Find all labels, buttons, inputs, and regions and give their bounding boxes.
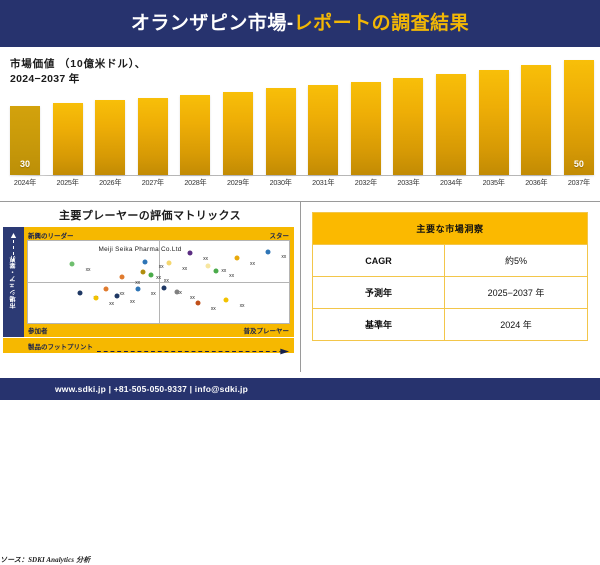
source-name: SDKI Analytics bbox=[28, 556, 74, 564]
matrix-data-point bbox=[70, 261, 75, 266]
chart-x-tick-label: 2025年 bbox=[53, 178, 83, 194]
insights-row-value: 約5% bbox=[445, 245, 588, 277]
matrix-highlight-company-label: Meiji Seika Pharma Co.Ltd bbox=[98, 246, 181, 253]
matrix-data-point-label: xx bbox=[130, 299, 135, 305]
matrix-data-point bbox=[143, 259, 148, 264]
chart-x-tick-label: 2029年 bbox=[223, 178, 253, 194]
matrix-data-point-label: xx bbox=[182, 266, 187, 272]
insights-row-value: 2024 年 bbox=[445, 309, 588, 341]
chart-x-tick-label: 2030年 bbox=[266, 178, 296, 194]
matrix-y-axis-label: 市場シェア・業界 bbox=[9, 255, 18, 309]
chart-bar-column bbox=[521, 55, 551, 175]
chart-bar-column bbox=[393, 55, 423, 175]
matrix-data-point-label: xx bbox=[240, 303, 245, 309]
matrix-quadrant-label-participant: 参加者 bbox=[28, 325, 48, 335]
chart-bar bbox=[95, 100, 125, 175]
matrix-data-point bbox=[161, 285, 166, 290]
source-prefix: ソース： bbox=[0, 557, 28, 564]
matrix-data-point bbox=[224, 298, 229, 303]
chart-bar bbox=[138, 98, 168, 175]
matrix-data-point bbox=[119, 275, 124, 280]
chart-bar: 50 bbox=[564, 60, 594, 175]
matrix-data-point bbox=[195, 301, 200, 306]
insights-header: 主要な市場洞察 bbox=[313, 213, 588, 245]
matrix-data-point-label: xx bbox=[190, 295, 195, 301]
chart-bar bbox=[479, 70, 509, 175]
chart-x-tick-label: 2036年 bbox=[521, 178, 551, 194]
table-header-row: 主要な市場洞察 bbox=[313, 213, 588, 245]
matrix-data-point-label: xx bbox=[135, 280, 140, 286]
insights-row-value: 2025−2037 年 bbox=[445, 277, 588, 309]
footer-contact: www.sdki.jp | +81-505-050-9337 | info@sd… bbox=[55, 384, 248, 394]
matrix-title: 主要プレーヤーの評価マトリックス bbox=[0, 207, 300, 223]
matrix-data-point-label: xx bbox=[86, 267, 91, 273]
insights-row-key: 予測年 bbox=[313, 277, 445, 309]
player-matrix-panel: 主要プレーヤーの評価マトリックス 新興のリーダー スター 参加者 普及プレーヤー… bbox=[0, 202, 300, 372]
matrix-data-point bbox=[187, 251, 192, 256]
matrix-quadrant-label-star: スター bbox=[270, 230, 290, 240]
chart-x-tick-label: 2026年 bbox=[95, 178, 125, 194]
infographic-root: オランザピン市場-レポートの調査結果 市場価値 （10億米ドル）、 2024−2… bbox=[0, 0, 600, 400]
matrix-data-point bbox=[234, 256, 239, 261]
chart-bar bbox=[223, 92, 253, 175]
chart-bar-column bbox=[351, 55, 381, 175]
matrix-frame: 新興のリーダー スター 参加者 普及プレーヤー Meiji Seika Phar… bbox=[3, 227, 294, 337]
chart-bar-column: 50 bbox=[564, 55, 594, 175]
chart-bar-column bbox=[223, 55, 253, 175]
chart-x-tick-label: 2037年 bbox=[564, 178, 594, 194]
matrix-data-point-label: xx bbox=[211, 306, 216, 312]
table-row: 予測年2025−2037 年 bbox=[313, 277, 588, 309]
chart-x-tick-label: 2032年 bbox=[351, 178, 381, 194]
table-row: CAGR約5% bbox=[313, 245, 588, 277]
matrix-x-axis-label: 製品のフットプリント bbox=[28, 341, 93, 351]
matrix-data-point bbox=[166, 261, 171, 266]
matrix-axis-horizontal bbox=[28, 282, 289, 283]
chart-bar-value-label: 30 bbox=[10, 159, 40, 169]
chart-baseline bbox=[8, 175, 596, 176]
right-arrow-icon bbox=[97, 342, 290, 349]
matrix-data-point bbox=[140, 270, 145, 275]
matrix-data-point-label: xx bbox=[109, 301, 114, 307]
chart-bar-column bbox=[479, 55, 509, 175]
matrix-data-point bbox=[93, 296, 98, 301]
chart-x-tick-label: 2034年 bbox=[436, 178, 466, 194]
chart-x-tick-label: 2028年 bbox=[180, 178, 210, 194]
page-title-primary: オランザピン市場- bbox=[131, 13, 294, 34]
matrix-data-point bbox=[104, 286, 109, 291]
chart-x-tick-label: 2024年 bbox=[10, 178, 40, 194]
matrix-data-point-label: xx bbox=[221, 268, 226, 274]
chart-bar bbox=[521, 65, 551, 175]
matrix-data-point-label: xx bbox=[229, 273, 234, 279]
chart-bar-column bbox=[95, 55, 125, 175]
chart-bar-column bbox=[266, 55, 296, 175]
chart-bar bbox=[351, 82, 381, 175]
chart-bar bbox=[266, 88, 296, 175]
chart-bar-column bbox=[138, 55, 168, 175]
chart-bar bbox=[53, 103, 83, 175]
chart-bar-column bbox=[180, 55, 210, 175]
matrix-data-point bbox=[114, 293, 119, 298]
market-value-chart: 市場価値 （10億米ドル）、 2024−2037 年 3050 2024年202… bbox=[0, 47, 600, 197]
table-row: 基準年2024 年 bbox=[313, 309, 588, 341]
matrix-quadrant-label-emerging: 新興のリーダー bbox=[28, 230, 74, 240]
chart-bar-column bbox=[308, 55, 338, 175]
matrix-data-point-label: xx bbox=[159, 264, 164, 270]
chart-plot-area: 3050 bbox=[10, 55, 594, 175]
matrix-data-point-label: xx bbox=[156, 275, 161, 281]
chart-bar-value-label: 50 bbox=[564, 159, 594, 169]
matrix-y-axis-label-wrap: 市場シェア・業界 bbox=[3, 227, 24, 337]
chart-bar-column: 30 bbox=[10, 55, 40, 175]
matrix-data-point bbox=[266, 249, 271, 254]
matrix-data-point-label: xx bbox=[281, 254, 286, 260]
insights-row-key: CAGR bbox=[313, 245, 445, 277]
chart-bar-column bbox=[436, 55, 466, 175]
chart-x-tick-label: 2035年 bbox=[479, 178, 509, 194]
matrix-data-point bbox=[206, 263, 211, 268]
matrix-data-point-label: xx bbox=[164, 278, 169, 284]
header-bar: オランザピン市場-レポートの調査結果 bbox=[0, 0, 600, 47]
chart-bar-column bbox=[53, 55, 83, 175]
chart-x-axis: 2024年2025年2026年2027年2028年2029年2030年2031年… bbox=[10, 178, 594, 194]
matrix-x-axis-row: 製品のフットプリント bbox=[3, 338, 294, 353]
matrix-data-point-label: xx bbox=[203, 256, 208, 262]
page-title: オランザピン市場-レポートの調査結果 bbox=[131, 14, 469, 33]
matrix-data-point bbox=[174, 289, 179, 294]
matrix-quadrant-label-penetrator: 普及プレーヤー bbox=[244, 325, 290, 335]
chart-bar bbox=[393, 78, 423, 175]
chart-x-tick-label: 2033年 bbox=[393, 178, 423, 194]
matrix-scatter-area: Meiji Seika Pharma Co.Ltd xxxxxxxxxxxxxx… bbox=[27, 240, 290, 324]
chart-bar: 30 bbox=[10, 106, 40, 175]
chart-x-tick-label: 2031年 bbox=[308, 178, 338, 194]
matrix-data-point bbox=[78, 290, 83, 295]
chart-x-tick-label: 2027年 bbox=[138, 178, 168, 194]
matrix-data-point-label: xx bbox=[151, 291, 156, 297]
matrix-data-point-label: xx bbox=[250, 261, 255, 267]
source-note: ソース：SDKI Analytics 分析 bbox=[0, 555, 90, 565]
matrix-data-point bbox=[135, 286, 140, 291]
page-title-accent: レポートの調査結果 bbox=[294, 13, 470, 34]
footer-bar: www.sdki.jp | +81-505-050-9337 | info@sd… bbox=[0, 378, 600, 400]
chart-bar bbox=[180, 95, 210, 175]
chart-bar bbox=[436, 74, 466, 175]
matrix-data-point bbox=[213, 268, 218, 273]
matrix-data-point bbox=[148, 273, 153, 278]
key-insights-panel: 主要な市場洞察 CAGR約5%予測年2025−2037 年基準年2024 年 bbox=[300, 202, 600, 372]
source-suffix: 分析 bbox=[74, 557, 90, 564]
insights-row-key: 基準年 bbox=[313, 309, 445, 341]
key-insights-table: 主要な市場洞察 CAGR約5%予測年2025−2037 年基準年2024 年 bbox=[312, 212, 588, 341]
chart-bar bbox=[308, 85, 338, 175]
matrix-data-point-label: xx bbox=[120, 291, 125, 297]
